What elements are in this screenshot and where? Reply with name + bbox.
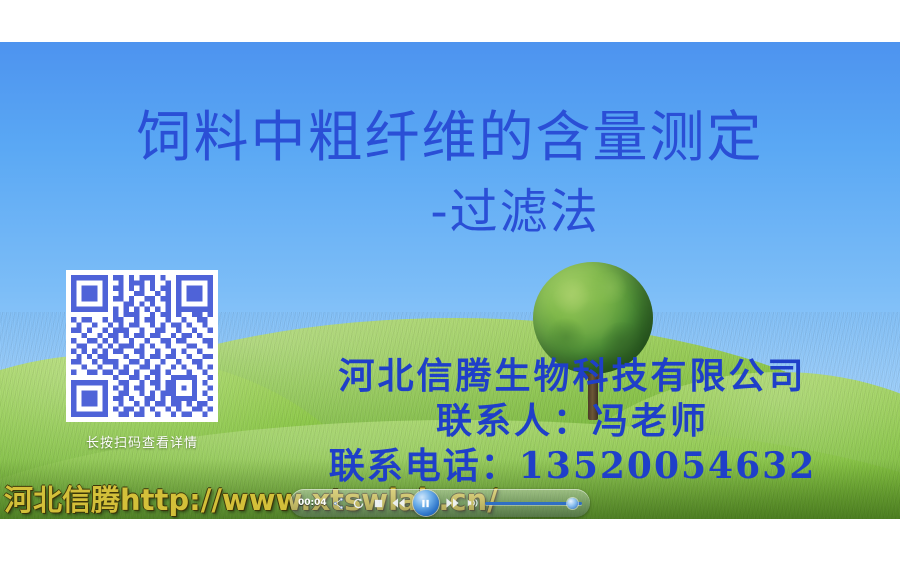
- slide-title: 饲料中粗纤维的含量测定: [0, 106, 900, 169]
- screenshot-root: 饲料中粗纤维的含量测定 -过滤法: [0, 0, 900, 561]
- share-icon[interactable]: [331, 495, 347, 511]
- company-name: 河北信腾生物科技有限公司: [245, 354, 900, 399]
- player-control-bar[interactable]: 00:04: [290, 489, 590, 517]
- qr-block: 长按扫码查看详情: [66, 270, 218, 451]
- qr-caption: 长按扫码查看详情: [66, 432, 218, 451]
- rewind-icon[interactable]: [391, 495, 407, 511]
- pause-button[interactable]: [413, 490, 439, 516]
- refresh-icon[interactable]: [351, 495, 367, 511]
- slide-subtitle: -过滤法: [0, 172, 900, 242]
- time-display: 00:04: [298, 498, 327, 508]
- contact-person: 联系人：冯老师: [245, 399, 900, 444]
- volume-slider[interactable]: [485, 496, 582, 510]
- forward-icon[interactable]: [445, 495, 461, 511]
- stop-icon[interactable]: [371, 495, 387, 511]
- company-info-block: 河北信腾生物科技有限公司 联系人：冯老师 联系电话：13520054632: [245, 354, 900, 489]
- pause-icon: [420, 498, 431, 509]
- video-player-stage[interactable]: 饲料中粗纤维的含量测定 -过滤法: [0, 42, 900, 519]
- qr-code-icon: [66, 270, 218, 422]
- volume-handle[interactable]: [567, 498, 578, 509]
- volume-icon[interactable]: [465, 495, 481, 511]
- leaf-cluster: [573, 300, 617, 340]
